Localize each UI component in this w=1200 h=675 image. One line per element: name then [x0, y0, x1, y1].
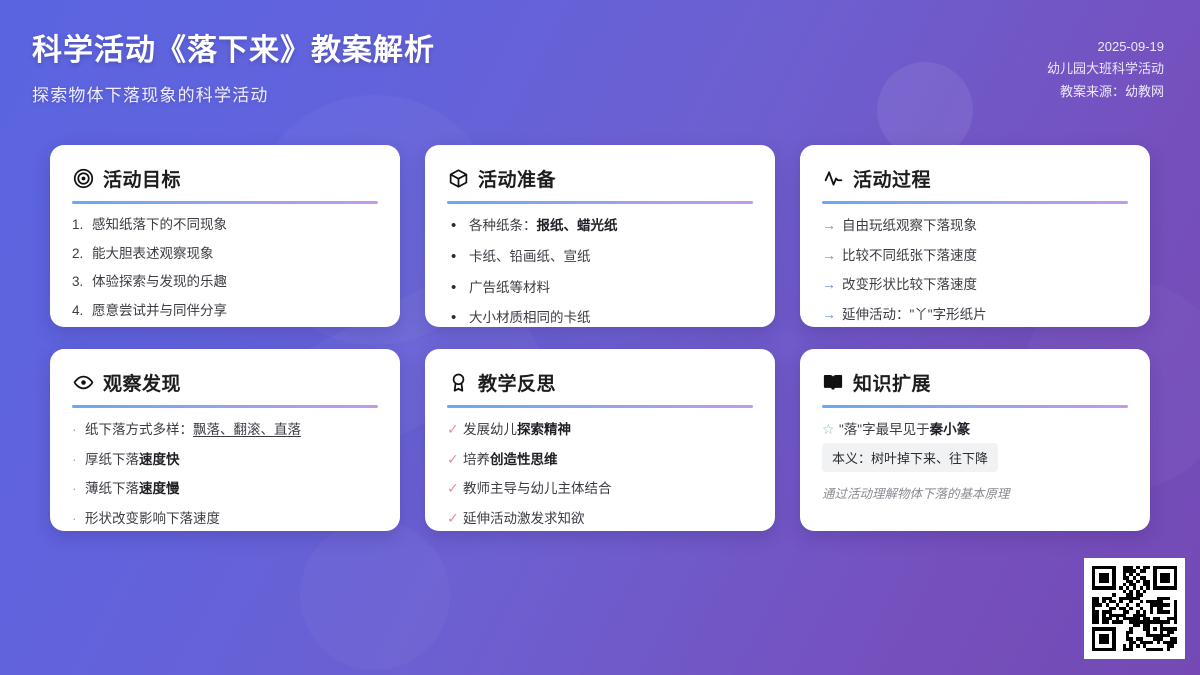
list-text: 纸下落方式多样：飘落、翻滚、直落 [85, 420, 301, 440]
target-icon [72, 168, 94, 190]
card-items: ✓ 发展幼儿探索精神 ✓ 培养创造性思维 ✓ 教师主导与幼儿主体结合 ✓ 延伸活… [447, 419, 753, 528]
list-marker: ☆ [822, 419, 839, 439]
page-subtitle: 探索物体下落现象的科学活动 [32, 81, 435, 106]
list-item: · 形状改变影响下落速度 [72, 508, 378, 529]
eye-icon [72, 372, 94, 394]
list-text: 改变形状比较下落速度 [842, 275, 977, 295]
card-header: 活动目标 [72, 165, 378, 192]
list-marker: • [447, 246, 469, 268]
card-items: ☆ "落"字最早见于秦小篆 [822, 419, 1128, 440]
list-item: • 卡纸、铅画纸、宣纸 [447, 246, 753, 268]
list-item: → 自由玩纸观察下落现象 [822, 215, 1128, 236]
meta-date: 2025-09-19 [1047, 36, 1164, 58]
card-grid: 活动目标 1. 感知纸落下的不同现象 2. 能大胆表述观察现象 3. 体验探索与… [50, 145, 1150, 531]
card-items: → 自由玩纸观察下落现象 → 比较不同纸张下落速度 → 改变形状比较下落速度 →… [822, 215, 1128, 324]
list-item: 3. 体验探索与发现的乐趣 [72, 272, 378, 292]
card-divider [447, 201, 753, 204]
meta-audience: 幼儿园大班科学活动 [1047, 58, 1164, 80]
list-item: • 大小材质相同的卡纸 [447, 307, 753, 327]
list-item: 2. 能大胆表述观察现象 [72, 244, 378, 264]
card-activity-goals[interactable]: 活动目标 1. 感知纸落下的不同现象 2. 能大胆表述观察现象 3. 体验探索与… [50, 145, 400, 327]
list-text: 比较不同纸张下落速度 [842, 246, 977, 266]
list-marker: → [822, 304, 842, 324]
list-item: · 厚纸下落速度快 [72, 449, 378, 470]
list-item: 1. 感知纸落下的不同现象 [72, 215, 378, 235]
slide-root: 科学活动《落下来》教案解析 探索物体下落现象的科学活动 2025-09-19 幼… [0, 0, 1200, 675]
card-header: 活动过程 [822, 165, 1128, 192]
card-items: · 纸下落方式多样：飘落、翻滚、直落 · 厚纸下落速度快 · 薄纸下落速度慢 ·… [72, 419, 378, 528]
card-title: 活动目标 [103, 165, 181, 192]
list-item: ✓ 教师主导与幼儿主体结合 [447, 478, 753, 499]
book-icon [822, 372, 844, 394]
list-marker: ✓ [447, 419, 463, 439]
definition-chip: 本义：树叶掉下来、往下降 [822, 443, 998, 472]
list-marker: → [822, 245, 842, 265]
list-item: • 各种纸条：报纸、蜡光纸 [447, 215, 753, 237]
list-text: 各种纸条：报纸、蜡光纸 [469, 216, 618, 236]
card-divider [447, 405, 753, 408]
card-knowledge-expansion[interactable]: 知识扩展 ☆ "落"字最早见于秦小篆 本义：树叶掉下来、往下降 通过活动理解物体… [800, 349, 1150, 531]
card-title: 观察发现 [103, 369, 181, 396]
list-item: ✓ 培养创造性思维 [447, 449, 753, 470]
list-text: 教师主导与幼儿主体结合 [463, 479, 612, 499]
list-marker: · [72, 419, 85, 439]
list-text: 体验探索与发现的乐趣 [92, 272, 227, 292]
list-marker: 1. [72, 215, 92, 235]
list-marker: ✓ [447, 449, 463, 469]
list-text: 厚纸下落速度快 [85, 450, 180, 470]
header-meta: 2025-09-19 幼儿园大班科学活动 教案来源：幼教网 [1047, 28, 1164, 103]
list-item: → 比较不同纸张下落速度 [822, 245, 1128, 266]
list-text: 形状改变影响下落速度 [85, 509, 220, 529]
list-marker: 4. [72, 301, 92, 321]
list-marker: ✓ [447, 508, 463, 528]
list-text: 自由玩纸观察下落现象 [842, 216, 977, 236]
list-item: 4. 愿意尝试并与同伴分享 [72, 301, 378, 321]
list-marker: • [447, 215, 469, 237]
card-items: • 各种纸条：报纸、蜡光纸 • 卡纸、铅画纸、宣纸 • 广告纸等材料 • 大小材… [447, 215, 753, 327]
list-text: 广告纸等材料 [469, 278, 550, 298]
list-text: 发展幼儿探索精神 [463, 420, 571, 440]
card-header: 教学反思 [447, 369, 753, 396]
list-marker: · [72, 478, 85, 498]
list-item: · 纸下落方式多样：飘落、翻滚、直落 [72, 419, 378, 440]
card-title: 知识扩展 [853, 369, 931, 396]
activity-pulse-icon [822, 168, 844, 190]
qr-code[interactable] [1084, 558, 1185, 659]
list-marker: ✓ [447, 478, 463, 498]
list-text: 大小材质相同的卡纸 [469, 308, 591, 327]
list-text: "落"字最早见于秦小篆 [839, 420, 970, 440]
card-divider [72, 405, 378, 408]
card-title: 活动准备 [478, 165, 556, 192]
card-divider [822, 201, 1128, 204]
list-item: • 广告纸等材料 [447, 277, 753, 299]
list-marker: → [822, 215, 842, 235]
list-item: → 改变形状比较下落速度 [822, 274, 1128, 295]
card-title: 活动过程 [853, 165, 931, 192]
list-item: ✓ 发展幼儿探索精神 [447, 419, 753, 440]
list-text: 延伸活动："丫"字形纸片 [842, 305, 987, 325]
card-header: 知识扩展 [822, 369, 1128, 396]
list-marker: · [72, 449, 85, 469]
list-text: 感知纸落下的不同现象 [92, 215, 227, 235]
list-marker: · [72, 508, 85, 528]
card-divider [822, 405, 1128, 408]
card-header: 观察发现 [72, 369, 378, 396]
list-marker: • [447, 277, 469, 299]
card-items: 1. 感知纸落下的不同现象 2. 能大胆表述观察现象 3. 体验探索与发现的乐趣… [72, 215, 378, 320]
list-marker: 3. [72, 272, 92, 292]
list-text: 延伸活动激发求知欲 [463, 509, 585, 529]
card-header: 活动准备 [447, 165, 753, 192]
list-item: · 薄纸下落速度慢 [72, 478, 378, 499]
decorative-circle-3 [300, 520, 450, 670]
list-text: 薄纸下落速度慢 [85, 479, 180, 499]
list-item: ✓ 延伸活动激发求知欲 [447, 508, 753, 529]
card-title: 教学反思 [478, 369, 556, 396]
box-icon [447, 168, 469, 190]
slide-header: 科学活动《落下来》教案解析 探索物体下落现象的科学活动 2025-09-19 幼… [0, 0, 1200, 128]
card-divider [72, 201, 378, 204]
list-marker: 2. [72, 244, 92, 264]
list-text: 能大胆表述观察现象 [92, 244, 214, 264]
list-text: 愿意尝试并与同伴分享 [92, 301, 227, 321]
card-activity-process[interactable]: 活动过程 → 自由玩纸观察下落现象 → 比较不同纸张下落速度 → 改变形状比较下… [800, 145, 1150, 327]
meta-source: 教案来源：幼教网 [1047, 81, 1164, 103]
card-teaching-reflection[interactable]: 教学反思 ✓ 发展幼儿探索精神 ✓ 培养创造性思维 ✓ 教师主导与幼儿主体结合 … [425, 349, 775, 531]
page-title: 科学活动《落下来》教案解析 [32, 32, 435, 70]
header-left: 科学活动《落下来》教案解析 探索物体下落现象的科学活动 [32, 28, 435, 106]
qr-code-matrix [1092, 566, 1177, 651]
list-marker: → [822, 274, 842, 294]
list-item: → 延伸活动："丫"字形纸片 [822, 304, 1128, 325]
list-text: 卡纸、铅画纸、宣纸 [469, 247, 591, 267]
list-text: 培养创造性思维 [463, 450, 558, 470]
card-activity-preparation[interactable]: 活动准备 • 各种纸条：报纸、蜡光纸 • 卡纸、铅画纸、宣纸 • 广告纸等材料 … [425, 145, 775, 327]
list-marker: • [447, 307, 469, 327]
knowledge-note: 通过活动理解物体下落的基本原理 [822, 483, 1128, 502]
card-observation-findings[interactable]: 观察发现 · 纸下落方式多样：飘落、翻滚、直落 · 厚纸下落速度快 · 薄纸下落… [50, 349, 400, 531]
award-icon [447, 372, 469, 394]
list-item: ☆ "落"字最早见于秦小篆 [822, 419, 1128, 440]
